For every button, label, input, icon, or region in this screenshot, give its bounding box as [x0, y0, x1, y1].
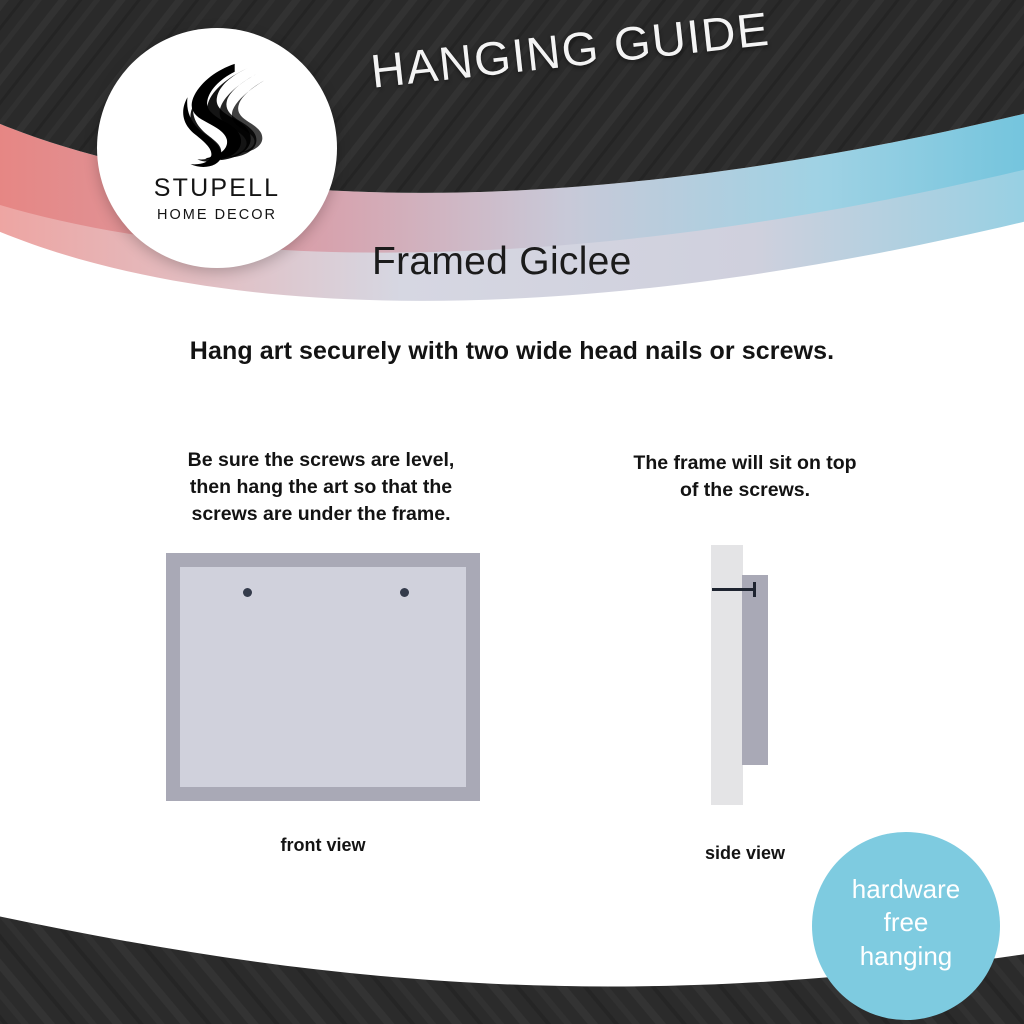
front-view-instruction-line-1: Be sure the screws are level,: [166, 447, 476, 474]
screw-dot-right-icon: [400, 588, 409, 597]
stupell-swirl-logo-icon: [158, 54, 276, 172]
front-view-instruction-line-3: screws are under the frame.: [166, 501, 476, 528]
side-view-instruction-line-1: The frame will sit on top: [600, 450, 890, 477]
logo-brand-subtitle: HOME DECOR: [157, 208, 277, 223]
side-view-wall: [711, 545, 743, 805]
side-view-caption: side view: [660, 843, 830, 864]
badge-line-2: free: [884, 906, 929, 939]
side-view-screw-shaft-icon: [712, 588, 755, 591]
page-title: HANGING GUIDE: [368, 0, 891, 99]
brand-logo-badge: STUPELL HOME DECOR: [97, 28, 337, 268]
screw-dot-left-icon: [243, 588, 252, 597]
side-view-instruction-line-2: of the screws.: [600, 477, 890, 504]
front-view-instruction-line-2: then hang the art so that the: [166, 474, 476, 501]
side-view-instruction: The frame will sit on top of the screws.: [600, 450, 890, 504]
badge-line-1: hardware: [852, 873, 960, 906]
side-view-screw-head-icon: [753, 582, 756, 597]
logo-brand-name: STUPELL: [154, 176, 281, 201]
lead-instruction-text: Hang art securely with two wide head nai…: [0, 337, 1024, 366]
side-view-frame-diagram: [705, 545, 785, 815]
side-view-frame: [742, 575, 768, 765]
hardware-free-hanging-badge: hardware free hanging: [812, 832, 1000, 1020]
front-view-instruction: Be sure the screws are level, then hang …: [166, 447, 476, 528]
badge-line-3: hanging: [860, 940, 953, 973]
hanging-guide-infographic: STUPELL HOME DECOR HANGING GUIDE Framed …: [0, 0, 1024, 1024]
front-view-caption: front view: [166, 835, 480, 856]
product-type-title: Framed Giclee: [372, 240, 632, 284]
front-view-frame-diagram: [166, 553, 480, 801]
front-view-mat-area: [180, 567, 466, 787]
